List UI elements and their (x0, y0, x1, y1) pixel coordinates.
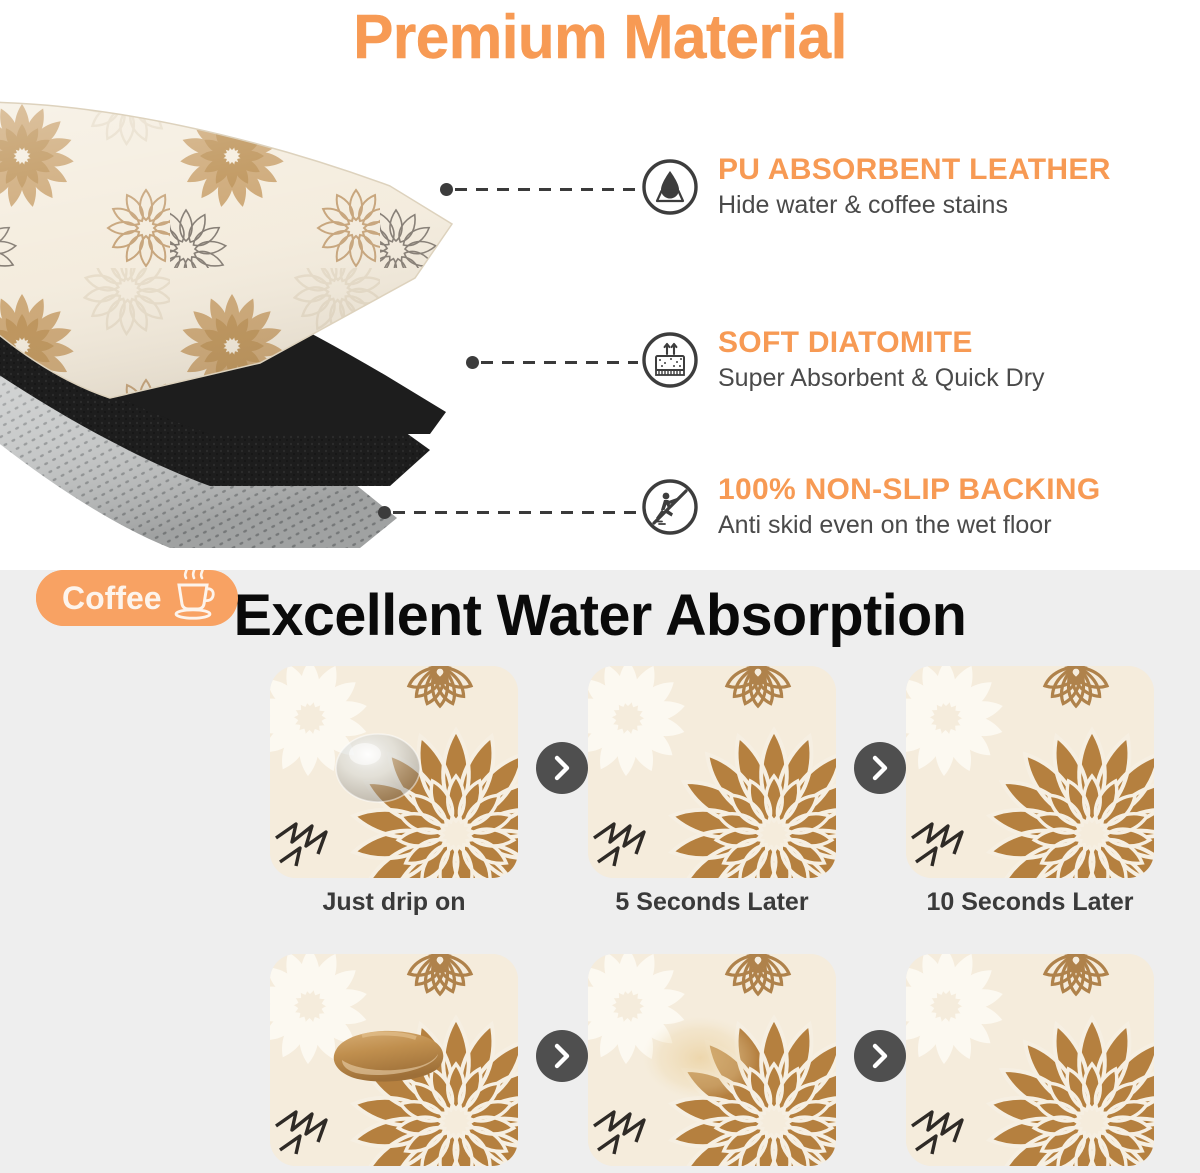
feature-subtitle: Hide water & coffee stains (718, 188, 1111, 222)
feature-non-slip-backing: 100% NON-SLIP BACKING Anti skid even on … (640, 472, 1101, 542)
badge-coffee: Coffee (36, 570, 238, 626)
feature-text-block: SOFT DIATOMITE Super Absorbent & Quick D… (718, 325, 1045, 395)
no-slipping-person-icon (640, 477, 700, 537)
chevron-right-icon (536, 1030, 588, 1082)
water-stage-panel-3 (906, 666, 1154, 878)
leader-dot (440, 183, 453, 196)
coffee-cup-icon (170, 570, 216, 626)
coffee-stage-panel-1 (270, 954, 518, 1166)
premium-material-section: Premium Material (0, 0, 1200, 570)
chevron-right-icon (536, 742, 588, 794)
leader-dot (466, 356, 479, 369)
feature-title: SOFT DIATOMITE (718, 325, 1045, 361)
water-stage-panel-2 (588, 666, 836, 878)
mat-layer-pu-leather (0, 78, 520, 434)
infographic-page: Premium Material (0, 0, 1200, 1173)
leader-line-diatomite (466, 355, 638, 369)
leader-dash (393, 511, 638, 514)
layered-mat-image (0, 78, 600, 558)
feature-text-block: 100% NON-SLIP BACKING Anti skid even on … (718, 472, 1101, 542)
water-stage-panel-1 (270, 666, 518, 878)
chevron-right-icon (854, 742, 906, 794)
water-absorption-section: Excellent Water Absorption (0, 570, 1200, 1173)
feature-soft-diatomite: SOFT DIATOMITE Super Absorbent & Quick D… (640, 325, 1045, 395)
coffee-stage-panel-2 (588, 954, 836, 1166)
stage-caption: 5 Seconds Later (588, 886, 836, 918)
leader-dash (481, 361, 638, 364)
badge-label: Coffee (62, 580, 162, 616)
feature-subtitle: Super Absorbent & Quick Dry (718, 361, 1045, 395)
chevron-right-icon (854, 1030, 906, 1082)
water-drop-on-mat-icon (640, 157, 700, 217)
feature-text-block: PU ABSORBENT LEATHER Hide water & coffee… (718, 152, 1111, 222)
feature-pu-absorbent-leather: PU ABSORBENT LEATHER Hide water & coffee… (640, 152, 1111, 222)
stage-caption: 10 Seconds Later (906, 886, 1154, 918)
leader-dot (378, 506, 391, 519)
feature-subtitle: Anti skid even on the wet floor (718, 508, 1101, 542)
diatomite-sponge-icon (640, 330, 700, 390)
feature-title: 100% NON-SLIP BACKING (718, 472, 1101, 508)
coffee-stage-panel-3 (906, 954, 1154, 1166)
stage-caption: Just drip on (270, 886, 518, 918)
leader-line-pu-leather (440, 182, 638, 196)
leader-line-non-slip (378, 505, 638, 519)
leader-dash (455, 188, 638, 191)
feature-title: PU ABSORBENT LEATHER (718, 152, 1111, 188)
page-title-premium-material: Premium Material (18, 2, 1182, 74)
